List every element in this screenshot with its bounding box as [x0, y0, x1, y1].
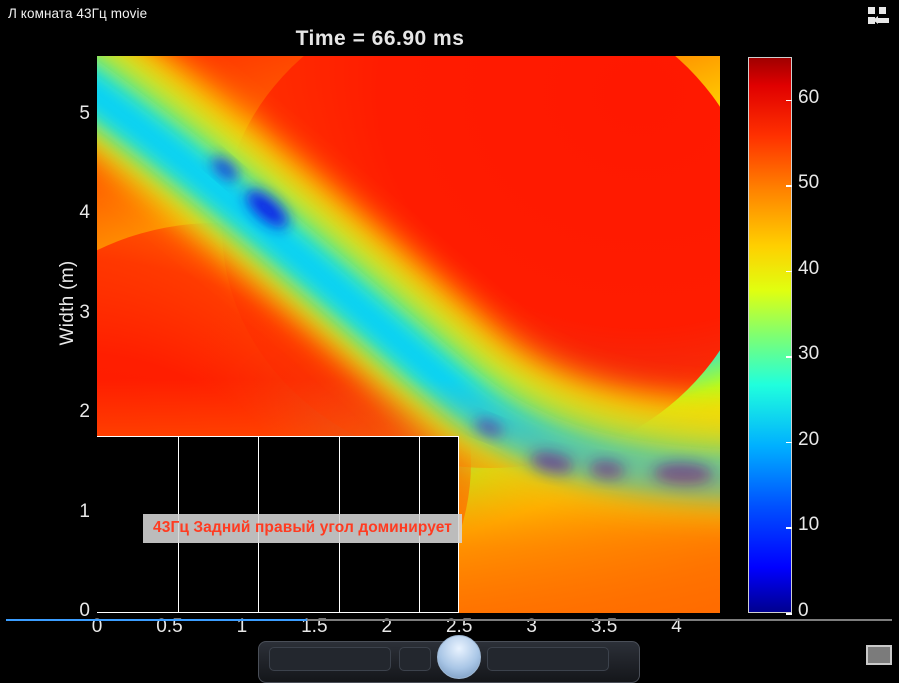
y-tick-label: 1 — [50, 501, 90, 523]
colorbar-tick-mark — [786, 100, 792, 102]
colorbar-tick-mark — [786, 356, 792, 358]
restore-window-icon[interactable] — [865, 5, 891, 27]
restore-square-1 — [868, 7, 875, 14]
video-progress-bar[interactable] — [6, 619, 892, 621]
colorbar-tick-mark — [786, 527, 792, 529]
colorbar-tick-mark — [786, 442, 792, 444]
y-axis: Width (m) 012345 — [40, 56, 90, 613]
inset-baseline — [97, 612, 458, 613]
video-control-bar[interactable] — [258, 641, 640, 683]
control-pill-left[interactable] — [269, 647, 391, 671]
colorbar-tick-label: 30 — [798, 343, 844, 365]
y-tick-label: 4 — [50, 202, 90, 224]
colorbar-tick-mark — [786, 613, 792, 615]
colorbar-tick-label: 60 — [798, 87, 844, 109]
colorbar-tick-label: 40 — [798, 258, 844, 280]
colorbar: 0102030405060 — [748, 57, 792, 613]
colorbar-tick-label: 10 — [798, 514, 844, 536]
fullscreen-icon[interactable] — [866, 645, 892, 665]
y-tick-label: 2 — [50, 401, 90, 423]
window-title: Л комната 43Гц movie — [8, 6, 147, 21]
control-pill-right[interactable] — [487, 647, 609, 671]
chart-title: Time = 66.90 ms — [0, 27, 760, 51]
figure: Time = 66.90 ms Width (m) 012345 00.511.… — [0, 30, 899, 620]
video-player-window: Л комната 43Гц movie Time = 66.90 ms Wid… — [0, 0, 899, 653]
titlebar: Л комната 43Гц movie — [0, 0, 899, 30]
colorbar-gradient — [748, 57, 792, 613]
colorbar-tick-mark — [786, 271, 792, 273]
colorbar-tick-label: 20 — [798, 429, 844, 451]
y-tick-label: 5 — [50, 103, 90, 125]
restore-square-2 — [879, 7, 886, 14]
restore-arrow — [878, 18, 889, 23]
y-tick-label: 3 — [50, 302, 90, 324]
play-button[interactable] — [437, 635, 481, 679]
annotation-textbox: 43Гц Задний правый угол доминирует — [143, 514, 462, 543]
colorbar-tick-mark — [786, 185, 792, 187]
video-progress-fill — [6, 619, 307, 621]
control-pill-mid[interactable] — [399, 647, 431, 671]
colorbar-tick-label: 50 — [798, 172, 844, 194]
